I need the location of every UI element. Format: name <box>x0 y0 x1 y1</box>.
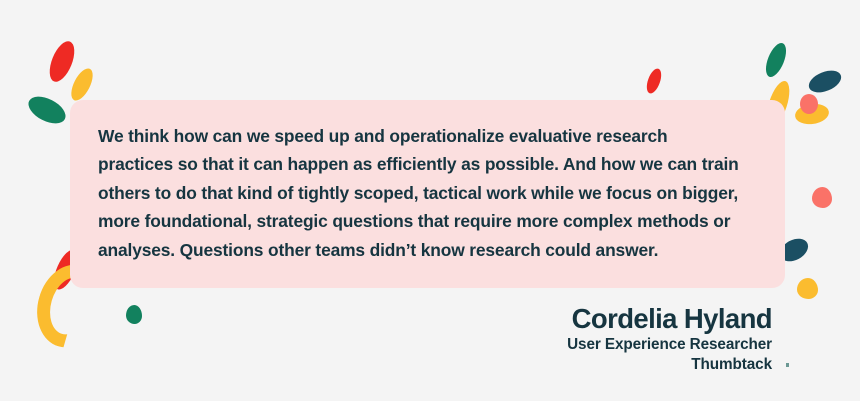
attribution-role: User Experience Researcher <box>567 335 772 355</box>
confetti-navy-top-right <box>806 66 845 96</box>
quote-card-graphic: We think how can we speed up and operati… <box>0 0 860 401</box>
confetti-yellow-blob-right <box>794 102 830 127</box>
confetti-coral-top-right <box>800 94 818 114</box>
confetti-green-top-right <box>762 40 790 79</box>
speck-artifact <box>786 363 789 367</box>
quote-text: We think how can we speed up and operati… <box>98 122 747 264</box>
confetti-green-top-left <box>24 91 70 129</box>
confetti-yellow-top-left <box>67 65 97 103</box>
attribution: Cordelia Hyland User Experience Research… <box>567 303 772 375</box>
confetti-red-top-left <box>45 38 80 85</box>
attribution-company: Thumbtack <box>567 355 772 375</box>
confetti-yellow-bottom-right <box>797 278 818 299</box>
confetti-green-bottom-left <box>126 305 142 324</box>
confetti-red-top-mid <box>644 67 664 96</box>
attribution-name: Cordelia Hyland <box>567 303 772 335</box>
quote-card: We think how can we speed up and operati… <box>70 100 785 288</box>
confetti-coral-right <box>812 187 832 208</box>
